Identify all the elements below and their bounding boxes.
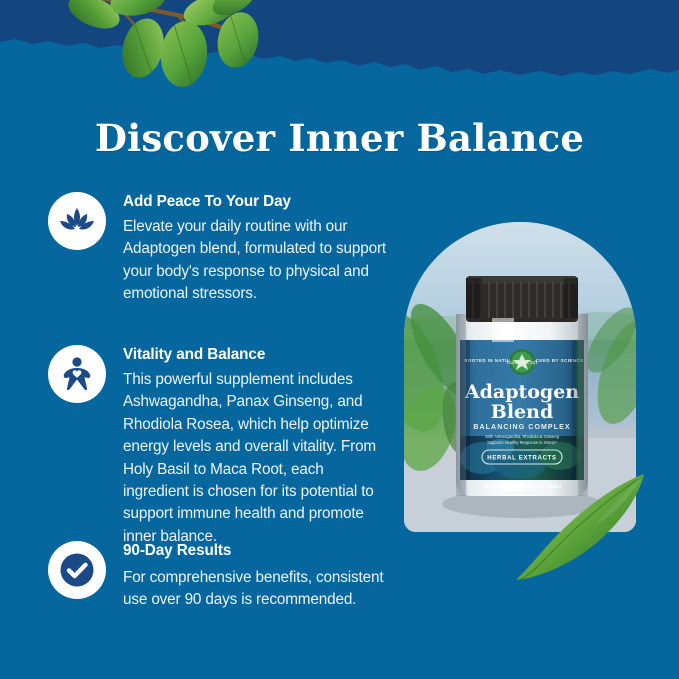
product-bullet-2: Supports Healthy Response to Stress* [487, 440, 557, 445]
product-image-arch: ROOTED IN NATURE BACKED BY SCIENCE Natur… [404, 222, 636, 532]
product-name-line1: Adaptogen [464, 381, 579, 403]
feature-text: 90-Day Results For comprehensive benefit… [123, 541, 393, 612]
product-subtitle: BALANCING COMPLEX [473, 424, 570, 431]
feature-icon-wrapper [48, 192, 106, 250]
person-heart-icon [48, 345, 106, 403]
product-bullet-1: With Ashwagandha, Rhodiola & Ginseng [485, 434, 559, 439]
brand-name: Nature's Craft [506, 360, 538, 365]
product-photo: ROOTED IN NATURE BACKED BY SCIENCE Natur… [404, 222, 636, 532]
feature-block-vitality: Vitality and Balance This powerful suppl… [48, 345, 393, 548]
feature-body: For comprehensive benefits, consistent u… [123, 567, 393, 612]
product-supplement-line: Dietary Supplement [504, 490, 540, 495]
feature-body: This powerful supplement includes Ashwag… [123, 369, 393, 549]
feature-icon-wrapper [48, 345, 106, 403]
feature-icon-wrapper [48, 541, 106, 599]
feature-text: Add Peace To Your Day Elevate your daily… [123, 192, 393, 306]
page-title: Discover Inner Balance [0, 116, 679, 160]
feature-text: Vitality and Balance This powerful suppl… [123, 345, 393, 548]
feature-heading: 90-Day Results [123, 542, 393, 560]
feature-block-add-peace: Add Peace To Your Day Elevate your daily… [48, 192, 393, 306]
product-name-line2: Blend [491, 401, 553, 423]
svg-text:HERBAL EXTRACTS: HERBAL EXTRACTS [487, 456, 556, 462]
feature-body: Elevate your daily routine with our Adap… [123, 216, 393, 306]
product-count-line: 180 Capsules (Up to 180 Days Supply) [483, 484, 561, 489]
feature-block-90-day: 90-Day Results For comprehensive benefit… [48, 541, 393, 612]
promo-infographic: Discover Inner Balance Add Peace To Your… [0, 0, 679, 679]
check-circle-icon [48, 541, 106, 599]
feature-heading: Add Peace To Your Day [123, 193, 393, 211]
leaf-branch-decoration [38, 0, 268, 110]
feature-heading: Vitality and Balance [123, 346, 393, 364]
lotus-icon [48, 192, 106, 250]
